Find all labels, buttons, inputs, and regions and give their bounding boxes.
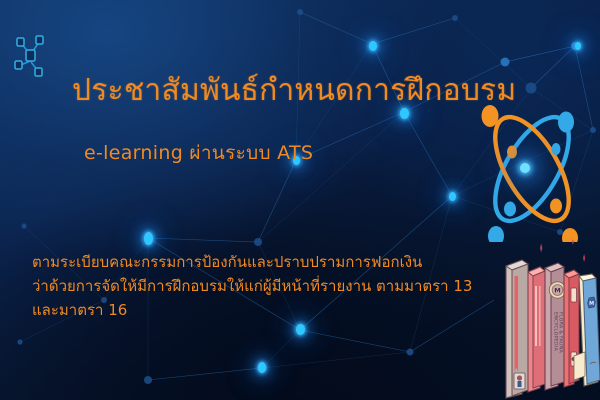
- glow-node: [575, 42, 581, 50]
- body-line-1: ตามระเบียบคณะกรรมการป้องกันและปราบปรามกา…: [32, 250, 492, 274]
- book-item: [528, 267, 545, 392]
- glow-node: [296, 324, 305, 335]
- glow-node: [369, 41, 377, 51]
- training-announcement-banner: ประชาสัมพันธ์กำหนดการฝึกอบรม e-learning …: [0, 0, 600, 400]
- book-item: [506, 260, 528, 398]
- svg-text:M: M: [589, 301, 594, 307]
- page-title: ประชาสัมพันธ์กำหนดการฝึกอบรม: [72, 74, 452, 108]
- books-stack-illustration: M FLORA & FAUNA ENCYCLOPEDIA M: [488, 236, 600, 400]
- glow-node: [400, 108, 409, 119]
- body-line-3: และมาตรา 16: [32, 298, 492, 322]
- page-subtitle: e-learning ผ่านระบบ ATS: [84, 138, 313, 168]
- glow-node: [449, 192, 456, 201]
- book-page: [574, 352, 585, 380]
- glow-node: [144, 232, 153, 245]
- body-line-2: ว่าด้วยการจัดให้มีการฝึกอบรมให้แก่ผู้มีห…: [32, 274, 492, 298]
- body-text: ตามระเบียบคณะกรรมการป้องกันและปราบปรามกา…: [32, 250, 492, 322]
- atom-logo: [466, 96, 598, 242]
- glow-node: [258, 362, 266, 373]
- book-spine-subtitle: ENCYCLOPEDIA: [553, 312, 559, 352]
- molecule-icon: [8, 30, 52, 78]
- book-item-encyclopedia: M FLORA & FAUNA ENCYCLOPEDIA: [545, 263, 566, 390]
- book-emblem-letter: M: [554, 287, 560, 295]
- sparkle-icon: [540, 239, 585, 262]
- atom-nucleus-glow: [520, 163, 530, 173]
